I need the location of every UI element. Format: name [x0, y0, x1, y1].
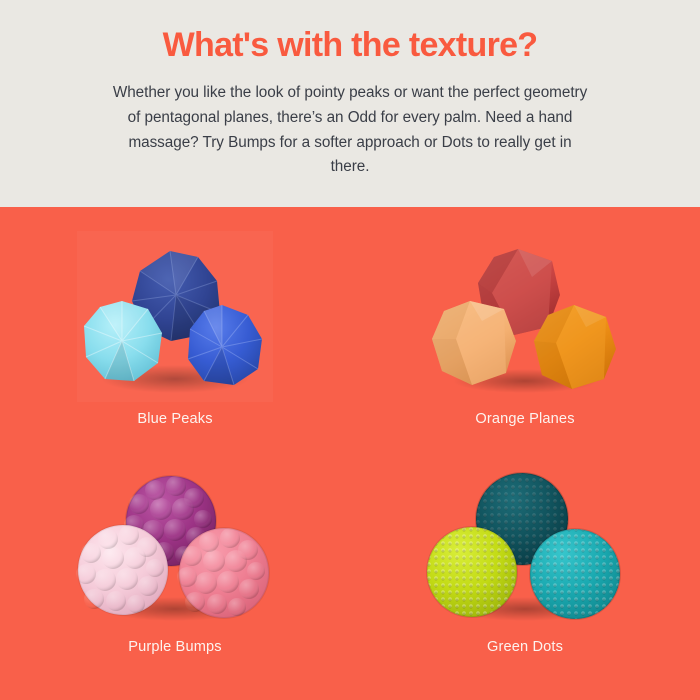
- planes-balls-illustration: [420, 229, 630, 404]
- ball-left: [432, 301, 516, 385]
- product-label-purple-bumps: Purple Bumps: [128, 639, 221, 655]
- peaks-balls-illustration: [70, 229, 280, 404]
- product-card-green-dots[interactable]: Green Dots: [350, 457, 700, 685]
- bumps-balls-illustration: [70, 457, 280, 632]
- product-card-purple-bumps[interactable]: Purple Bumps: [0, 457, 350, 685]
- product-card-blue-peaks[interactable]: Blue Peaks: [0, 229, 350, 457]
- ball-right: [530, 529, 620, 619]
- product-image-green-dots: [420, 457, 630, 632]
- product-image-blue-peaks: [70, 229, 280, 404]
- product-grid: Blue Peaks: [0, 207, 700, 700]
- product-label-orange-planes: Orange Planes: [475, 411, 574, 427]
- product-card-orange-planes[interactable]: Orange Planes: [350, 229, 700, 457]
- page-title: What's with the texture?: [92, 26, 608, 65]
- page-description: Whether you like the look of pointy peak…: [110, 81, 590, 180]
- infographic-page: What's with the texture? Whether you lik…: [0, 0, 700, 700]
- ball-right: [177, 528, 269, 618]
- product-image-orange-planes: [420, 229, 630, 404]
- dots-balls-illustration: [420, 457, 630, 632]
- ball-left: [427, 527, 517, 617]
- product-label-blue-peaks: Blue Peaks: [137, 411, 212, 427]
- product-image-purple-bumps: [70, 457, 280, 632]
- header-section: What's with the texture? Whether you lik…: [0, 0, 700, 207]
- ball-left: [76, 525, 168, 615]
- product-label-green-dots: Green Dots: [487, 639, 563, 655]
